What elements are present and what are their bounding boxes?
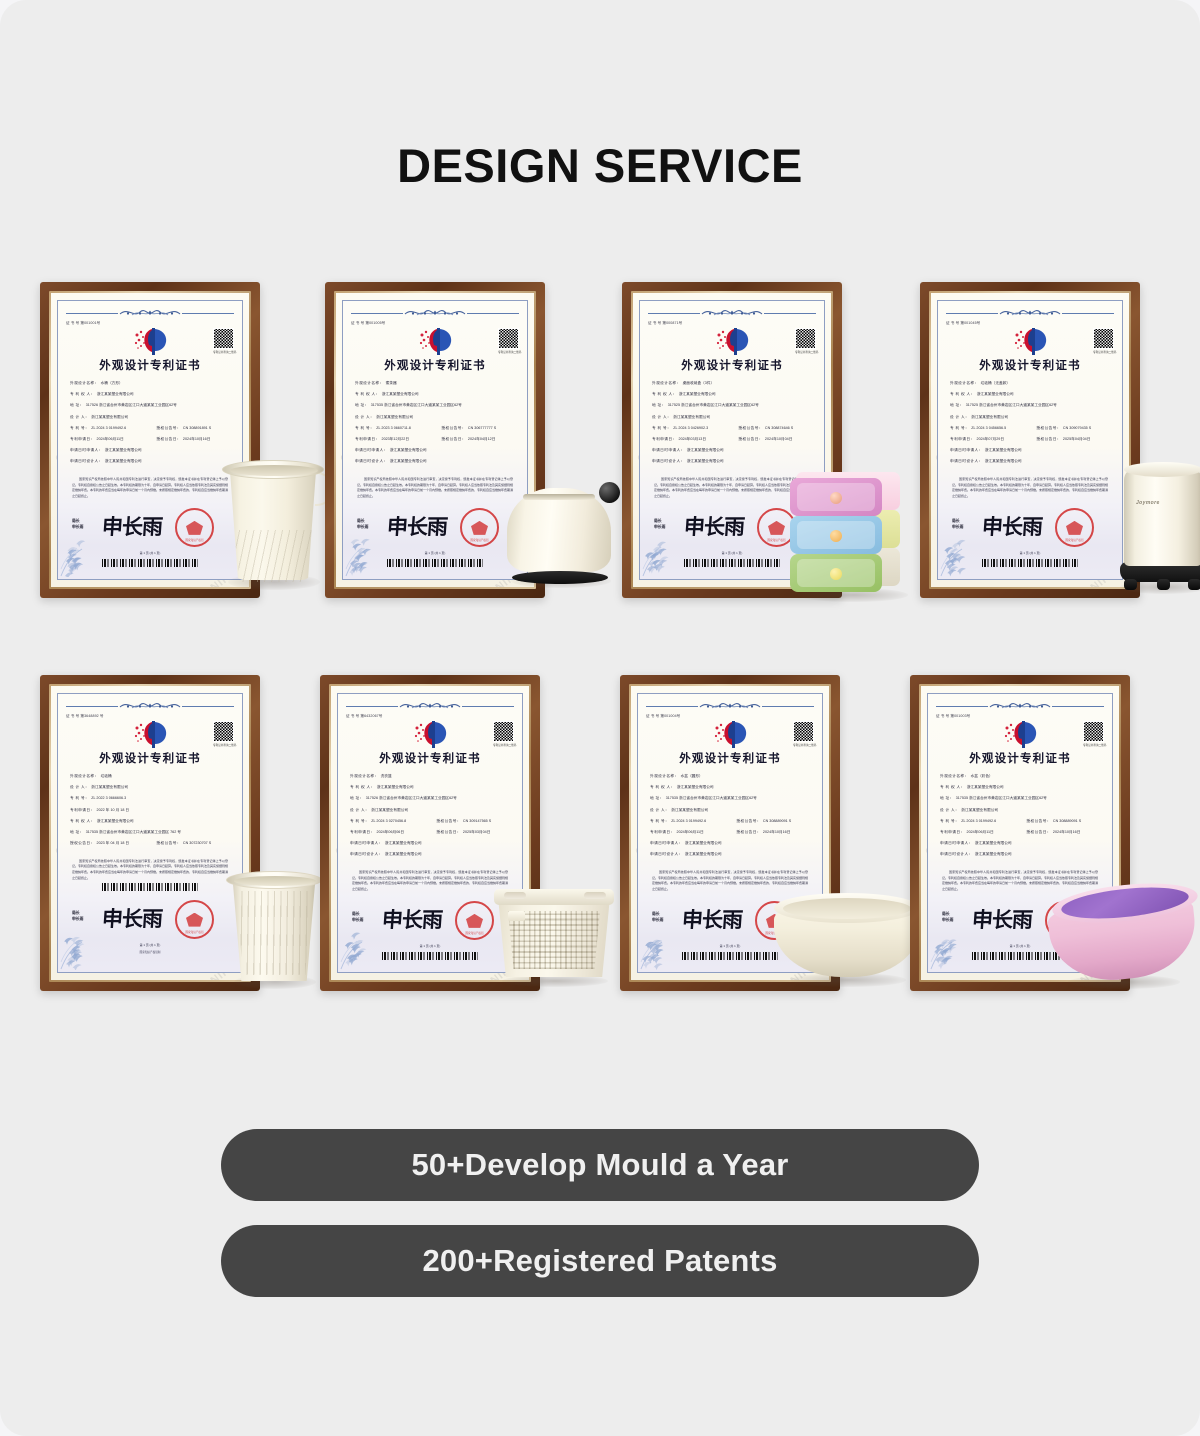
certificate-field: 专利申请日：2024年07月29日授权公告日：2025年04月04日 [950,438,1110,442]
frame-bevel: CNIPACNIPACNIPACNIPACNIPACNIPACNIPACNIPA… [631,291,833,589]
qr-code-image [795,328,816,349]
certificate-field-value: 浙江某某塑业有限公司 [977,392,1014,396]
seal-text: 国家知识产权局 [177,538,212,542]
certificate-title: 外观设计专利证书 [946,357,1114,373]
certificate-field-value: 2024年06月11日 [97,437,124,441]
certificate-field-value: 317535 浙江省台州市黄岩区江口大道某某工业园区62号 [371,403,462,407]
certificate-field: 地 址：317525 浙江省台州市黄岩区江口大道某某工业园区62号 [652,404,812,408]
qr-code-image [1093,328,1114,349]
design-service-page: DESIGN SERVICE CNIPACNIPACNIPACNIPACNIPA… [0,0,1200,1436]
certificate-field-value: 浙江某某塑业有限公司 [382,392,419,396]
certificate-field-label: 外观设计名称： [652,381,681,385]
cnipa-logo-icon [715,326,749,356]
qr-code-image [213,328,234,349]
ornament-rule [467,313,519,314]
certificate-page-number: 第 1 页 (共 1 页) [648,551,816,555]
certificate-field: 设 计 人：浙江某某塑业有限公司 [70,416,230,420]
certificate-legal-text: 国家知识产权局依照中华人民共和国专利法进行审查，决定授予专利权，颁发本证书并在专… [351,477,519,499]
certificate-field-label: 地 址： [652,403,666,407]
certificate-field-value: 2024年04月12日 [468,437,495,441]
certificate-field-value: 浙江某某塑业有限公司 [105,448,142,452]
certificate-field-value: 浙江某某塑业有限公司 [687,448,724,452]
certificate-field: 申请日时申请人：浙江某某塑业有限公司 [950,449,1110,453]
certificate-field: 专 利 权 人：浙江某某塑业有限公司 [652,393,812,397]
certificate-field-label: 专 利 权 人： [652,392,677,396]
certificate-field: 专 利 权 人：浙江某某塑业有限公司 [355,393,515,397]
certificate-field-label: 授权公告日： [156,437,181,441]
director-signature: 申长雨 [981,511,1043,541]
certificate-field-label: 设 计 人： [355,415,374,419]
certificate-field: 专利申请日：2024年03月13日授权公告日：2024年10月04日 [652,438,812,442]
certificate-field: 申请日时设计人：浙江某某塑业有限公司 [355,460,515,464]
seal-text: 国家知识产权局 [759,538,794,542]
certificate-field-value: 317525 浙江省台州市黄岩区江口大道某某工业园区62号 [966,403,1057,407]
certificate-field-value: 浙江某某塑业有限公司 [687,459,724,463]
certificate-field: 专 利 权 人：浙江某某塑业有限公司 [70,393,230,397]
cnipa-logo-icon [418,326,452,356]
certificate-title: 外观设计专利证书 [66,357,234,373]
certificate-barcode [387,559,483,567]
certificate-field-label: 申请日时设计人： [652,459,685,463]
certificate-field-value: 浙江某某塑业有限公司 [390,459,427,463]
certificate-field-label: 地 址： [950,403,964,407]
certificate-mat: CNIPACNIPACNIPACNIPACNIPACNIPACNIPACNIPA… [336,293,534,587]
ornament-rule [1062,313,1114,314]
certificate-field: 申请日时设计人：浙江某某塑业有限公司 [950,460,1110,464]
certificate-field-value: 317526 浙江省台州市黄岩区江口大道某某工业园区62号 [86,403,177,407]
certificate-legal-text: 国家知识产权局依照中华人民共和国专利法进行审查，决定授予专利权，颁发本证书并在专… [66,477,234,499]
seal-text: 国家知识产权局 [462,538,497,542]
director-label: 局长申长雨 [72,519,83,530]
certificate-field-label: 地 址： [355,403,369,407]
certificate-card-4[interactable]: CNIPACNIPACNIPACNIPACNIPACNIPACNIPACNIPA… [920,282,1200,602]
certificate-field-label: 设 计 人： [950,415,969,419]
certificate-ornament [351,306,519,319]
certificate-field-value: 浙江某某塑业有限公司 [673,415,710,419]
certificate-field-secondary: 授权公告日：2024年10月16日 [156,438,210,442]
cnipa-logo-icon [133,326,167,356]
certificate-field-value: 水桶（方形） [101,381,123,385]
certificate-frame: CNIPACNIPACNIPACNIPACNIPACNIPACNIPACNIPA… [40,282,260,598]
certificate-field-value: CN 308874646 S [765,426,793,430]
frame-bevel: CNIPACNIPACNIPACNIPACNIPACNIPACNIPACNIPA… [929,291,1131,589]
certificate-field-label: 申请日时申请人： [950,448,983,452]
certificate-field-label: 专 利 权 人： [950,392,975,396]
certificate-paper: 证 书 号 第001045号专利证书查询二维码外观设计专利证书外观设计名称：垃圾… [937,300,1123,580]
certificate-field-label: 申请日时设计人： [950,459,983,463]
certificate-field-value: 2024年10月16日 [183,437,210,441]
certificate-field-value: ZL 2024 3 0456656.5 [971,426,1006,430]
certificate-paper: 证 书 号 第000871号专利证书查询二维码外观设计专利证书外观设计名称：桌面… [639,300,825,580]
certificate-frame: CNIPACNIPACNIPACNIPACNIPACNIPACNIPACNIPA… [325,282,545,598]
qr-code-caption: 专利证书查询二维码 [795,350,816,354]
certificate-field: 申请日时设计人：浙江某某塑业有限公司 [70,460,230,464]
certificate-field-secondary: 授权公告日：2024年04月12日 [441,438,495,442]
certificate-field-label: 授权公告号： [441,426,466,430]
ornament-rule [66,313,118,314]
certificate-signature-block: 局长申长雨申长雨国家知识产权局 [648,505,816,549]
certificate-field: 专 利 号：ZL 2024 3 0456656.5授权公告号：CN 309079… [950,427,1110,431]
certificate-field-label: 授权公告日： [1036,437,1061,441]
certificate-field-label: 专 利 号： [950,426,969,430]
certificate-barcode [982,559,1078,567]
certificate-field-value: 浙江某某塑业有限公司 [971,415,1008,419]
certificate-field: 外观设计名称：煮茶器 [355,382,515,386]
qr-code-caption: 专利证书查询二维码 [1093,350,1114,354]
certificate-field-label: 申请日时申请人： [70,448,103,452]
director-signature: 申长雨 [101,511,163,541]
certificate-field-secondary: 授权公告号：CN 308874646 S [738,427,793,431]
certificate-field-label: 专 利 号： [355,426,374,430]
certificate-field: 专 利 号：ZL 2023 3 0660711.8授权公告号：CN 306777… [355,427,515,431]
certificate-field-value: 煮茶器 [386,381,397,385]
certificate-page-number: 第 1 页 (共 1 页) [351,551,519,555]
certificate-field-label: 专利申请日： [70,437,95,441]
certificate-field-label: 专 利 号： [652,426,671,430]
seal-emblem [186,521,203,535]
certificate-ornament [648,306,816,319]
certificate-field-value: ZL 2024 3 0199492.6 [91,426,126,430]
certificate-field: 设 计 人：浙江某某塑业有限公司 [355,416,515,420]
certificate-field-secondary: 授权公告号：CN 309079435 S [1036,427,1091,431]
certificate-field-value: CN 308891891 S [183,426,211,430]
certificate-field-label: 地 址： [70,403,84,407]
ornament-rule [182,313,234,314]
certificate-signature-block: 局长申长雨申长雨国家知识产权局 [66,505,234,549]
certificate-fields: 外观设计名称：桌面收纳盒（3件）专 利 权 人：浙江某某塑业有限公司地 址：31… [648,382,816,464]
qr-code[interactable]: 专利证书查询二维码 [795,328,816,354]
qr-code-caption: 专利证书查询二维码 [498,350,519,354]
certificate-page-number: 第 1 页 (共 1 页) [66,551,234,555]
certificate-field-value: 垃圾桶（无盖款） [981,381,1011,385]
certificate-field-value: ZL 2023 3 0660711.8 [376,426,411,430]
seal-emblem [768,521,785,535]
certificate-field-value: 浙江某某塑业有限公司 [97,392,134,396]
certificate-field: 申请日时申请人：浙江某某塑业有限公司 [652,449,812,453]
certificate-field: 申请日时设计人：浙江某某塑业有限公司 [652,460,812,464]
certificate-field-secondary: 授权公告日：2025年04月04日 [1036,438,1090,442]
certificate-field: 专 利 号：ZL 2024 3 0199492.6授权公告号：CN 308891… [70,427,230,431]
certificate-page-number: 第 1 页 (共 1 页) [946,551,1114,555]
stat-pill-mould-label: 50+Develop Mould a Year [411,1147,788,1183]
certificate-card-3[interactable]: CNIPACNIPACNIPACNIPACNIPACNIPACNIPACNIPA… [622,282,916,602]
certificate-field-label: 专利申请日： [652,437,677,441]
certificate-field-label: 专 利 权 人： [355,392,380,396]
stat-pill-patents[interactable]: 200+Registered Patents [221,1225,979,1297]
ornament-rule [946,313,998,314]
certificate-field-value: 2024年03月13日 [679,437,706,441]
certificate-header: 专利证书查询二维码 [648,326,816,356]
certificate-field-value: CN 306777777 S [468,426,496,430]
director-signature: 申长雨 [683,511,745,541]
certificate-row-1: CNIPACNIPACNIPACNIPACNIPACNIPACNIPACNIPA… [0,282,1200,682]
official-seal: 国家知识产权局 [757,508,796,547]
certificate-field-label: 申请日时申请人： [355,448,388,452]
certificate-field-label: 外观设计名称： [70,381,99,385]
ornament-rule [648,313,700,314]
certificate-field: 专利申请日：2023年12月22日授权公告日：2024年04月12日 [355,438,515,442]
cnipa-logo-icon [1013,326,1047,356]
certificate-field-value: 317525 浙江省台州市黄岩区江口大道某某工业园区62号 [668,403,759,407]
certificate-row-2 [0,677,1200,1077]
certificate-field-label: 授权公告号： [156,426,181,430]
certificate-field-value: 2023年12月22日 [382,437,409,441]
qr-code[interactable]: 专利证书查询二维码 [1093,328,1114,354]
certificate-card-2[interactable]: CNIPACNIPACNIPACNIPACNIPACNIPACNIPACNIPA… [325,282,619,602]
stats-pill-group: 50+Develop Mould a Year 200+Registered P… [0,1129,1200,1297]
qr-code[interactable]: 专利证书查询二维码 [498,328,519,354]
qr-code-image [498,328,519,349]
certificate-field-label: 设 计 人： [70,415,89,419]
official-seal: 国家知识产权局 [460,508,499,547]
certificate-field-label: 专 利 权 人： [70,392,95,396]
certificate-legal-text: 国家知识产权局依照中华人民共和国专利法进行审查，决定授予专利权，颁发本证书并在专… [648,477,816,499]
certificate-field-label: 外观设计名称： [355,381,384,385]
certificate-header: 专利证书查询二维码 [946,326,1114,356]
certificate-mat: CNIPACNIPACNIPACNIPACNIPACNIPACNIPACNIPA… [931,293,1129,587]
certificate-barcode [102,559,198,567]
certificate-field: 外观设计名称：垃圾桶（无盖款） [950,382,1110,386]
certificate-field: 设 计 人：浙江某某塑业有限公司 [652,416,812,420]
certificate-field-label: 设 计 人： [652,415,671,419]
certificate-field-value: ZL 2024 3 0426902.3 [673,426,708,430]
ornament-rule [764,313,816,314]
certificate-field: 专 利 号：ZL 2024 3 0426902.3授权公告号：CN 308874… [652,427,812,431]
certificate-ornament [946,306,1114,319]
qr-code[interactable]: 专利证书查询二维码 [213,328,234,354]
director-label: 局长申长雨 [357,519,368,530]
certificate-field-label: 专利申请日： [950,437,975,441]
certificate-field-value: 浙江某某塑业有限公司 [105,459,142,463]
official-seal: 国家知识产权局 [175,508,214,547]
page-title: DESIGN SERVICE [0,138,1200,193]
certificate-field: 地 址：317525 浙江省台州市黄岩区江口大道某某工业园区62号 [950,404,1110,408]
certificate-field-label: 专 利 号： [70,426,89,430]
certificate-barcode [684,559,780,567]
certificate-signature-block: 局长申长雨申长雨国家知识产权局 [946,505,1114,549]
seal-emblem [1066,521,1083,535]
certificate-field-value: CN 309079435 S [1063,426,1091,430]
certificate-mat: CNIPACNIPACNIPACNIPACNIPACNIPACNIPACNIPA… [633,293,831,587]
frame-bevel: CNIPACNIPACNIPACNIPACNIPACNIPACNIPACNIPA… [334,291,536,589]
certificate-grid: CNIPACNIPACNIPACNIPACNIPACNIPACNIPACNIPA… [0,282,1200,1077]
director-label: 局长申长雨 [952,519,963,530]
certificate-field: 地 址：317526 浙江省台州市黄岩区江口大道某某工业园区62号 [70,404,230,408]
certificate-ornament [66,306,234,319]
seal-text: 国家知识产权局 [1057,538,1092,542]
appliance-wheel [1188,579,1200,590]
director-label: 局长申长雨 [654,519,665,530]
certificate-mat: CNIPACNIPACNIPACNIPACNIPACNIPACNIPACNIPA… [51,293,249,587]
certificate-card-1[interactable]: CNIPACNIPACNIPACNIPACNIPACNIPACNIPACNIPA… [40,282,334,602]
certificate-field: 外观设计名称：水桶（方形） [70,382,230,386]
certificate-field-value: 浙江某某塑业有限公司 [985,448,1022,452]
certificate-field-value: 浙江某某塑业有限公司 [91,415,128,419]
certificate-legal-text: 国家知识产权局依照中华人民共和国专利法进行审查，决定授予专利权，颁发本证书并在专… [946,477,1114,499]
certificate-signature-block: 局长申长雨申长雨国家知识产权局 [351,505,519,549]
certificate-field-value: 浙江某某塑业有限公司 [376,415,413,419]
appliance-wheel [1157,579,1170,590]
certificate-fields: 外观设计名称：煮茶器专 利 权 人：浙江某某塑业有限公司地 址：317535 浙… [351,382,519,464]
certificate-field-label: 授权公告日： [738,437,763,441]
certificate-field: 申请日时申请人：浙江某某塑业有限公司 [355,449,515,453]
certificate-field-value: 2025年04月04日 [1063,437,1090,441]
frame-bevel: CNIPACNIPACNIPACNIPACNIPACNIPACNIPACNIPA… [49,291,251,589]
certificate-field-label: 专利申请日： [355,437,380,441]
certificate-field-value: 2024年07月29日 [977,437,1004,441]
cooker-knob [599,482,620,503]
certificate-fields: 外观设计名称：水桶（方形）专 利 权 人：浙江某某塑业有限公司地 址：31752… [66,382,234,464]
director-signature: 申长雨 [386,511,448,541]
certificate-field-secondary: 授权公告号：CN 308891891 S [156,427,211,431]
certificate-field-value: 桌面收纳盒（3件） [683,381,715,385]
certificate-field-label: 授权公告号： [738,426,763,430]
certificate-header: 专利证书查询二维码 [351,326,519,356]
certificate-fields: 外观设计名称：垃圾桶（无盖款）专 利 权 人：浙江某某塑业有限公司地 址：317… [946,382,1114,464]
certificate-paper: 证 书 号 第001001号专利证书查询二维码外观设计专利证书外观设计名称：水桶… [57,300,243,580]
seal-emblem [471,521,488,535]
stat-pill-patents-label: 200+Registered Patents [422,1243,777,1279]
qr-code-caption: 专利证书查询二维码 [213,350,234,354]
certificate-field: 专 利 权 人：浙江某某塑业有限公司 [950,393,1110,397]
certificate-field-label: 申请日时设计人： [70,459,103,463]
certificate-field: 专利申请日：2024年06月11日授权公告日：2024年10月16日 [70,438,230,442]
certificate-field-secondary: 授权公告日：2024年10月04日 [738,438,792,442]
certificate-frame: CNIPACNIPACNIPACNIPACNIPACNIPACNIPACNIPA… [622,282,842,598]
certificate-field-label: 授权公告号： [1036,426,1061,430]
certificate-title: 外观设计专利证书 [351,357,519,373]
certificate-field-secondary: 授权公告号：CN 306777777 S [441,427,496,431]
certificate-header: 专利证书查询二维码 [66,326,234,356]
certificate-field-value: 浙江某某塑业有限公司 [679,392,716,396]
certificate-title: 外观设计专利证书 [648,357,816,373]
certificate-field-label: 外观设计名称： [950,381,979,385]
certificate-field-label: 授权公告日： [441,437,466,441]
certificate-field: 申请日时申请人：浙江某某塑业有限公司 [70,449,230,453]
certificate-field-value: 浙江某某塑业有限公司 [985,459,1022,463]
certificate-frame: CNIPACNIPACNIPACNIPACNIPACNIPACNIPACNIPA… [920,282,1140,598]
certificate-field-value: 2024年10月04日 [765,437,792,441]
certificate-field: 地 址：317535 浙江省台州市黄岩区江口大道某某工业园区62号 [355,404,515,408]
certificate-field-label: 申请日时申请人： [652,448,685,452]
certificate-field: 外观设计名称：桌面收纳盒（3件） [652,382,812,386]
certificate-field: 设 计 人：浙江某某塑业有限公司 [950,416,1110,420]
official-seal: 国家知识产权局 [1055,508,1094,547]
stat-pill-mould[interactable]: 50+Develop Mould a Year [221,1129,979,1201]
ornament-rule [351,313,403,314]
certificate-paper: 证 书 号 第001005号专利证书查询二维码外观设计专利证书外观设计名称：煮茶… [342,300,528,580]
certificate-field-value: 浙江某某塑业有限公司 [390,448,427,452]
certificate-field-label: 申请日时设计人： [355,459,388,463]
